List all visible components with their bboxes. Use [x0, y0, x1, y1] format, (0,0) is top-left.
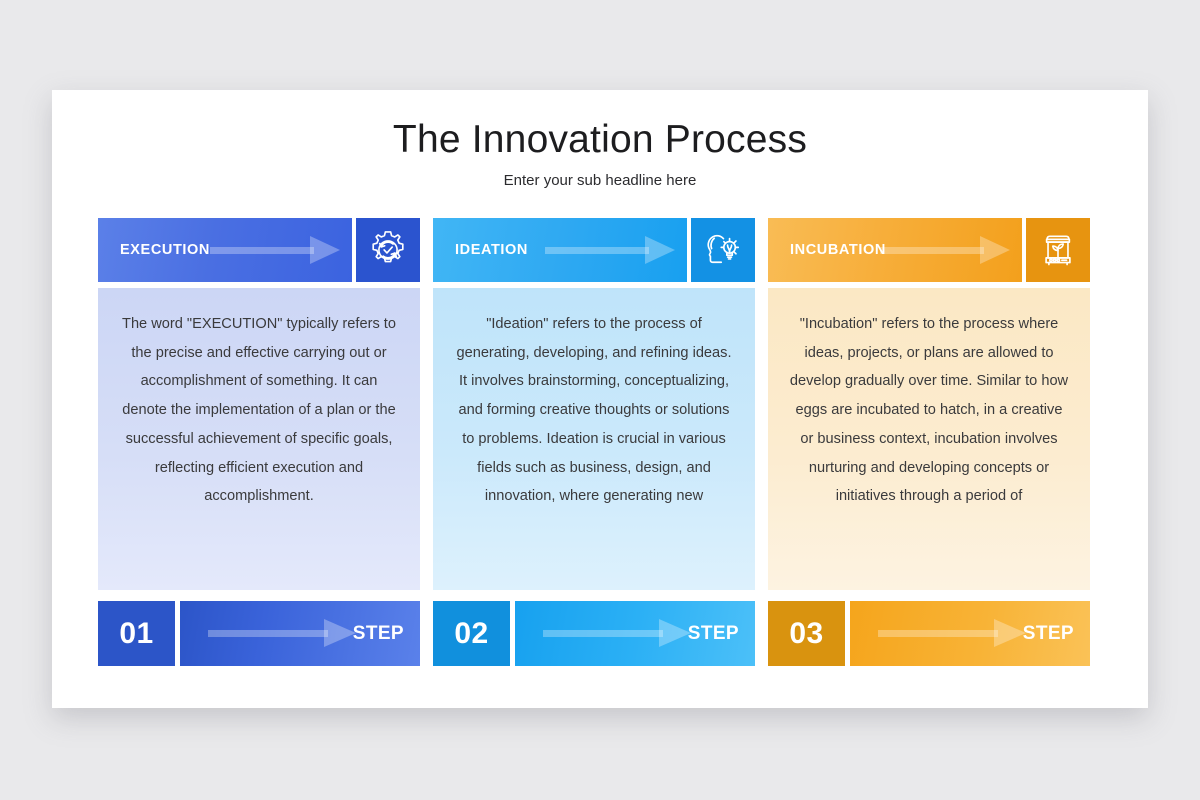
step-bar[interactable]: STEP — [515, 601, 755, 666]
column-header-row: EXECUTION — [98, 218, 420, 282]
slide-card: The Innovation Process Enter your sub he… — [52, 90, 1148, 708]
step-number-box: 01 — [98, 601, 175, 666]
step-row: 02 STEP — [433, 601, 755, 666]
step-bar[interactable]: STEP — [180, 601, 420, 666]
incubator-sprout-icon — [1026, 218, 1090, 282]
gear-check-icon — [356, 218, 420, 282]
column-body-text: "Ideation" refers to the process of gene… — [433, 288, 755, 590]
step-bar[interactable]: STEP — [850, 601, 1090, 666]
arrow-right-icon — [545, 236, 677, 264]
column-header-label: IDEATION — [455, 218, 528, 282]
page-title: The Innovation Process — [52, 118, 1148, 162]
process-column-execution[interactable]: EXECUTION — [98, 218, 420, 666]
column-header-bar[interactable]: IDEATION — [433, 218, 687, 282]
column-header-row: INCUBATION — [768, 218, 1090, 282]
step-label: STEP — [353, 601, 404, 666]
column-header-row: IDEATION — [433, 218, 755, 282]
column-header-label: EXECUTION — [120, 218, 210, 282]
column-header-bar[interactable]: EXECUTION — [98, 218, 352, 282]
page-subtitle: Enter your sub headline here — [52, 172, 1148, 189]
column-body-text: "Incubation" refers to the process where… — [768, 288, 1090, 590]
column-header-label: INCUBATION — [790, 218, 886, 282]
arrow-right-icon — [880, 236, 1012, 264]
arrow-right-icon — [208, 619, 358, 647]
column-header-bar[interactable]: INCUBATION — [768, 218, 1022, 282]
process-column-incubation[interactable]: INCUBATION — [768, 218, 1090, 666]
arrow-right-icon — [543, 619, 693, 647]
process-column-ideation[interactable]: IDEATION — [433, 218, 755, 666]
arrow-right-icon — [210, 236, 342, 264]
process-columns: EXECUTION — [98, 218, 1102, 666]
step-row: 01 STEP — [98, 601, 420, 666]
step-row: 03 STEP — [768, 601, 1090, 666]
head-lightbulb-icon — [691, 218, 755, 282]
step-number-box: 03 — [768, 601, 845, 666]
step-label: STEP — [1023, 601, 1074, 666]
column-body-text: The word "EXECUTION" typically refers to… — [98, 288, 420, 590]
step-label: STEP — [688, 601, 739, 666]
slide-canvas: The Innovation Process Enter your sub he… — [0, 0, 1200, 800]
step-number-box: 02 — [433, 601, 510, 666]
arrow-right-icon — [878, 619, 1028, 647]
